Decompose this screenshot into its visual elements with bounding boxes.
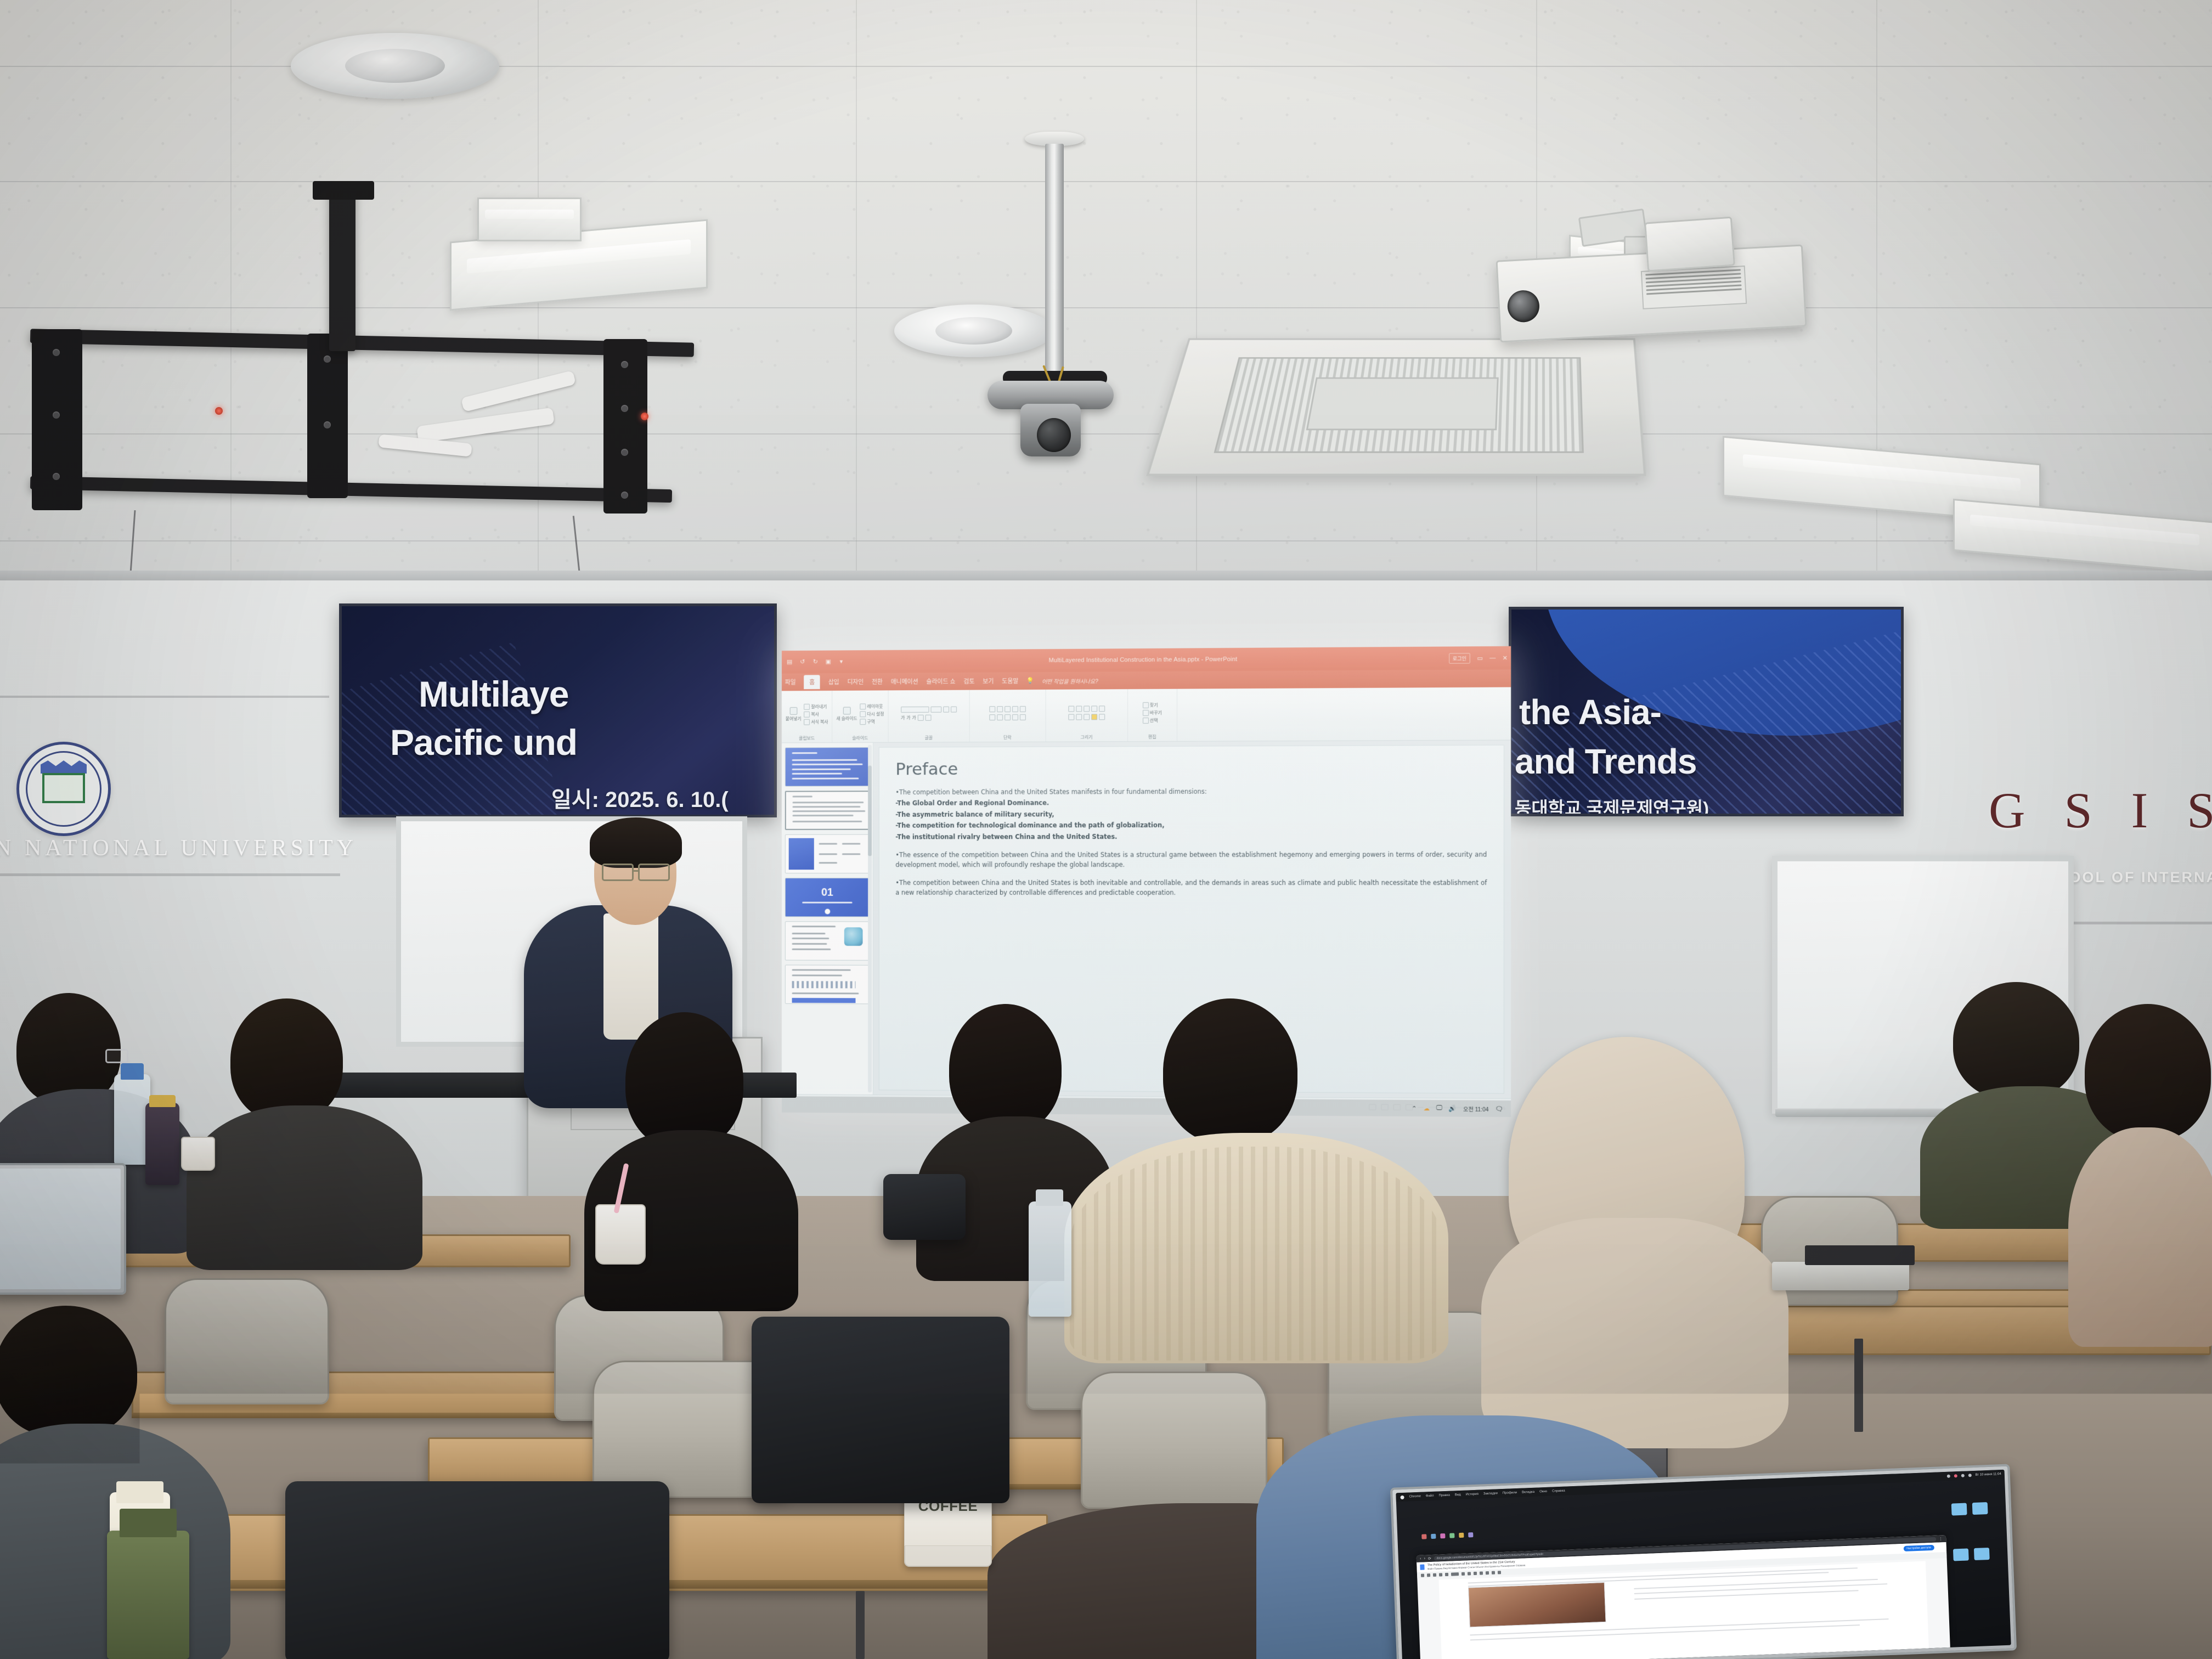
bold-button[interactable]: 가 (901, 715, 905, 721)
ptz-camera-head (1020, 404, 1081, 456)
seal-crown-graphic (41, 760, 87, 774)
ribbon-group-editing[interactable]: 찾기 바꾸기 선택 편집 (1128, 689, 1177, 741)
menu-window[interactable]: Окно (1539, 1490, 1547, 1494)
downlight-bulb (935, 317, 1012, 345)
paper-cup (181, 1137, 215, 1171)
bottle-cap (1036, 1189, 1063, 1206)
desk-leg (1854, 1339, 1863, 1432)
desk-leg (856, 1591, 865, 1659)
paste-label: 붙여넣기 (786, 715, 802, 721)
menu-tab[interactable]: Вкладка (1522, 1491, 1534, 1494)
close-icon[interactable]: ✕ (1503, 654, 1508, 661)
backpack (752, 1317, 1009, 1503)
camera-lens (1037, 418, 1071, 452)
share-button[interactable]: Настройки доступа (1903, 1545, 1934, 1551)
tab-slideshow[interactable]: 슬라이드 쇼 (926, 677, 955, 686)
ceiling-grid-line (1196, 0, 1197, 592)
hijab-drape (1481, 1218, 1788, 1448)
paste-icon (789, 707, 797, 714)
lightbulb-icon: 💡 (1026, 678, 1034, 685)
bullet-marker: • (895, 879, 899, 887)
bold-icon[interactable] (1462, 1572, 1465, 1575)
tv-mount-plate-mid (307, 334, 348, 498)
slide-thumbnail[interactable] (785, 834, 870, 874)
tablet-device (0, 1163, 126, 1295)
tab-design[interactable]: 디자인 (847, 678, 864, 686)
tab-file[interactable]: 파일 (785, 678, 796, 687)
align-right-icon[interactable] (1005, 714, 1011, 720)
apple-logo-icon[interactable] (1400, 1495, 1404, 1499)
reset-icon (860, 711, 866, 717)
copy-button[interactable]: 복사 (804, 711, 828, 717)
replace-button[interactable]: 바꾸기 (1143, 709, 1162, 715)
shape-rect-icon[interactable] (1068, 706, 1074, 712)
new-slide-button[interactable]: 새 슬라이드 (836, 707, 857, 721)
ac-center-panel (1306, 377, 1499, 430)
slide-thumbnail[interactable] (785, 791, 870, 830)
audience-head (230, 998, 343, 1122)
shape-more-icon[interactable] (1099, 706, 1105, 712)
italic-button[interactable]: 가 (906, 715, 910, 721)
audience-member-hijab (1459, 1037, 1843, 1454)
audience-torso (187, 1105, 422, 1270)
shape-line-icon[interactable] (1076, 706, 1082, 712)
slide-heading: Preface (895, 758, 1487, 779)
iced-drink-cup (595, 1204, 646, 1265)
wall-panel-line (0, 873, 340, 876)
battery-icon[interactable] (1954, 1474, 1957, 1477)
font-family-select[interactable] (901, 707, 929, 713)
decrease-indent-icon[interactable] (1005, 706, 1011, 712)
text-shadow-icon[interactable] (918, 715, 924, 721)
eyeglasses (105, 1049, 128, 1063)
ribbon-group-clipboard[interactable]: 붙여넣기 잘라내기 복사 서식 복사 (782, 691, 832, 743)
macbook-screen[interactable]: Chrome Файл Правка Вид История Закладки … (1396, 1470, 2011, 1659)
notebook-stack (1772, 1262, 1909, 1290)
scissors-icon (804, 703, 810, 709)
fluorescent-tube (1970, 515, 2199, 545)
green-water-bottle (107, 1531, 189, 1659)
status-led-red (641, 413, 648, 420)
slide-subbullet-4: -The institutional rivalry between China… (895, 832, 1487, 842)
italic-icon[interactable] (1468, 1572, 1471, 1575)
wall-top-band (0, 571, 2212, 580)
font-color-icon[interactable] (926, 715, 932, 721)
print-icon[interactable] (1433, 1573, 1436, 1576)
tab-view[interactable]: 보기 (983, 677, 994, 686)
link-icon[interactable] (1486, 1571, 1489, 1575)
tab-home[interactable]: 홈 (804, 675, 820, 689)
audience-member (1059, 998, 1476, 1355)
chair (1081, 1372, 1267, 1509)
section-button[interactable]: 구역 (860, 719, 884, 725)
cut-button[interactable]: 잘라내기 (804, 703, 828, 709)
mac-clock[interactable]: Вт 10 июня 11:04 (1975, 1472, 2001, 1477)
slide-subbullet-2: -The asymmetric balance of military secu… (895, 809, 1487, 820)
projector-label (1641, 266, 1747, 309)
paint-format-icon[interactable] (1445, 1573, 1448, 1576)
powerpoint-title-bar: ▤ ↺ ↻ ▣ ▾ MultiLayered Institutional Con… (782, 646, 1511, 674)
audience-torso (2068, 1127, 2212, 1347)
banner-right: the Asia- and Trends 동대학교 국제문제연구원) (1509, 607, 1904, 816)
banner-left-date: 일시: 2025. 6. 10.( (551, 782, 729, 814)
menu-file[interactable]: Файл (1426, 1494, 1434, 1498)
new-slide-label: 새 슬라이드 (836, 715, 857, 721)
numbered-list-icon[interactable] (997, 706, 1003, 712)
minimize-icon[interactable]: — (1489, 654, 1496, 661)
menu-edit[interactable]: Правка (1439, 1494, 1450, 1498)
drawing-group-label: 그리기 (1081, 734, 1093, 740)
replace-icon (1143, 709, 1149, 715)
audience-head (0, 1306, 137, 1437)
bullet-marker: • (895, 788, 899, 796)
university-wordmark: N NATIONAL UNIVERSITY (0, 835, 357, 861)
tv-mount-drop-pole (329, 187, 356, 351)
desktop-icons-row (1422, 1532, 1474, 1539)
select-button[interactable]: 선택 (1143, 717, 1158, 723)
slide-bullet-1: •The competition between China and the U… (895, 786, 1487, 797)
cut-label: 잘라내기 (811, 703, 827, 709)
pusan-national-university-seal (16, 742, 111, 836)
fluorescent-tube (485, 210, 574, 218)
ribbon-group-drawing[interactable]: 그리기 (1046, 689, 1127, 742)
water-bottle (1029, 1201, 1071, 1317)
tv-mount-plate-right (603, 339, 647, 513)
slide-section-number: 01 (821, 887, 833, 899)
bullet-text: The Global Order and Regional Dominance. (897, 799, 1049, 808)
eyeglasses-right-lens (638, 864, 670, 881)
ceiling-grid-line (0, 540, 2212, 541)
eyeglasses-left-lens (602, 864, 634, 881)
chrome-browser-window[interactable]: ‹ › ⟳ docs.google.com/document/d/1JjvTcL… (1417, 1535, 1950, 1659)
fluorescent-tube (1743, 454, 2020, 491)
shape-fill-icon[interactable] (1068, 714, 1074, 720)
tv-mount-plate-left (32, 329, 82, 510)
spellcheck-icon[interactable] (1439, 1573, 1442, 1576)
image-icon[interactable] (1498, 1571, 1501, 1574)
downlight-bulb (345, 49, 445, 83)
eyeglasses-bridge (634, 870, 639, 872)
desktop-folder-icons (1953, 1548, 1990, 1561)
tell-me-search[interactable]: 어떤 작업을 원하시나요? (1042, 676, 1098, 685)
thumbnail-scrollbar[interactable] (868, 745, 872, 1092)
paste-button[interactable]: 붙여넣기 (786, 707, 802, 721)
status-led-red (215, 407, 223, 415)
audience-head (1163, 998, 1297, 1144)
reset-label: 다시 설정 (867, 711, 884, 717)
tab-review[interactable]: 검토 (963, 677, 974, 686)
font-size-select[interactable] (930, 707, 941, 713)
bullet-text: The competition between China and the Un… (895, 879, 1487, 896)
quick-styles-icon[interactable] (1091, 714, 1097, 720)
extensions-icon[interactable]: ⋮ (1939, 1537, 1943, 1541)
bottle-cap (149, 1095, 176, 1107)
font-group-label: 글꼴 (925, 735, 933, 741)
backpack (285, 1481, 669, 1659)
inline-document-image (1468, 1582, 1606, 1628)
increase-font-icon[interactable] (943, 707, 949, 713)
wall-panel-line (0, 696, 329, 698)
macbook-laptop[interactable]: Chrome Файл Правка Вид История Закладки … (1390, 1464, 2017, 1659)
arrange-icon[interactable] (1099, 714, 1105, 720)
menu-bar-status-items[interactable]: Вт 10 июня 11:04 (1946, 1472, 2001, 1478)
menu-help[interactable]: Справка (1552, 1489, 1565, 1493)
bullet-text: The essence of the competition between C… (895, 851, 1487, 868)
justify-icon[interactable] (1012, 714, 1018, 720)
ceiling-ac-cassette (1146, 338, 1646, 476)
banner-left-title-line2: Pacific und (390, 721, 577, 763)
underline-icon[interactable] (1474, 1572, 1477, 1575)
format-painter-label: 서식 복사 (811, 719, 828, 725)
tv-mount-ceiling-plate (313, 181, 374, 200)
brush-icon (804, 719, 810, 725)
reload-icon[interactable]: ⟳ (1428, 1556, 1431, 1561)
slide-bullet-3: •The competition between China and the U… (895, 878, 1487, 898)
layout-button[interactable]: 레이아웃 (860, 703, 884, 709)
menu-history[interactable]: История (1466, 1493, 1479, 1497)
shape-outline-icon[interactable] (1076, 714, 1082, 720)
bullet-text: The asymmetric balance of military secur… (897, 810, 1054, 818)
lecture-hall-photo: N NATIONAL UNIVERSITY G S I S GRADUATE S… (0, 0, 2212, 1659)
layout-icon (860, 703, 866, 709)
bullet-text: The competition for technological domina… (897, 821, 1164, 830)
paragraph-group-label: 단락 (1003, 735, 1012, 741)
banner-right-subtitle: 동대학교 국제문제연구원) (1515, 794, 1709, 816)
sweater-rib-texture (1070, 1147, 1443, 1361)
fluorescent-tube (467, 239, 691, 273)
tablet-screen (0, 1169, 121, 1289)
ceiling-grid-line (856, 0, 857, 592)
powerpoint-ribbon[interactable]: 붙여넣기 잘라내기 복사 서식 복사 (782, 687, 1511, 743)
audience-head (1953, 982, 2079, 1100)
line-spacing-icon[interactable] (1020, 706, 1026, 712)
ceiling-downlight (291, 33, 499, 99)
banner-left: Multilaye Pacific und 일시: 2025. 6. 10.( (339, 603, 777, 817)
reset-button[interactable]: 다시 설정 (860, 711, 884, 717)
audience-head (2085, 1004, 2211, 1141)
menu-chrome[interactable]: Chrome (1409, 1495, 1421, 1499)
world-map-image (844, 927, 862, 946)
thermos-cap (116, 1481, 163, 1503)
bluetooth-icon[interactable] (1946, 1475, 1950, 1478)
bullet-text: The competition between China and the Un… (899, 788, 1207, 796)
shape-effects-icon[interactable] (1084, 714, 1090, 720)
slide-thumbnail[interactable] (785, 747, 870, 787)
undo-icon[interactable] (1421, 1573, 1424, 1577)
find-label: 찾기 (1150, 702, 1158, 708)
find-button[interactable]: 찾기 (1143, 702, 1158, 708)
ribbon-group-slides[interactable]: 새 슬라이드 레이아웃 다시 설정 구역 (832, 690, 888, 742)
new-slide-icon (843, 707, 850, 714)
bottle-cap (120, 1509, 177, 1537)
projector-top-housing (1644, 217, 1735, 272)
decrease-font-icon[interactable] (951, 707, 957, 713)
ceiling-downlight (894, 304, 1053, 357)
audience-member (2074, 1004, 2212, 1344)
section-icon (860, 719, 866, 725)
back-icon[interactable]: ‹ (1420, 1557, 1421, 1561)
ribbon-group-paragraph[interactable]: 단락 (970, 690, 1046, 742)
tab-help[interactable]: 도움말 (1002, 676, 1018, 685)
bullet-marker: • (895, 851, 899, 859)
bag (883, 1174, 966, 1240)
redo-icon[interactable] (1427, 1573, 1430, 1577)
tab-animations[interactable]: 애니메이션 (891, 677, 918, 686)
bottle-cap (121, 1063, 144, 1080)
powerpoint-document-title: MultiLayered Institutional Construction … (782, 654, 1511, 665)
gsis-acronym: G S I S (1989, 781, 2212, 839)
tab-insert[interactable]: 삽입 (828, 678, 839, 686)
text-color-icon[interactable] (1480, 1571, 1483, 1575)
seal-book-graphic (42, 773, 85, 803)
zoom-select[interactable] (1451, 1572, 1459, 1576)
sign-in-button[interactable]: 로그인 (1449, 653, 1470, 663)
text-direction-icon[interactable] (1020, 714, 1026, 720)
banner-left-title-line1: Multilaye (419, 673, 568, 715)
slide-thumbnail[interactable] (785, 921, 870, 961)
slide-bullet-2: •The essence of the competition between … (895, 850, 1487, 870)
comment-icon[interactable] (1492, 1571, 1495, 1574)
closed-laptop (1805, 1245, 1915, 1265)
bullet-list-icon[interactable] (989, 706, 995, 712)
tab-transitions[interactable]: 전환 (872, 678, 883, 686)
window-controls[interactable]: 로그인 ▭ — ✕ (1449, 652, 1508, 663)
projector-lens (1506, 290, 1540, 323)
menu-view[interactable]: Вид (1455, 1493, 1461, 1497)
docs-icon (1420, 1565, 1425, 1570)
underline-button[interactable]: 가 (912, 715, 916, 721)
slide-subbullet-3: -The competition for technological domin… (895, 820, 1487, 831)
clipboard-group-label: 클립보드 (799, 735, 815, 741)
select-icon (1143, 717, 1149, 723)
audience-head (625, 1012, 743, 1149)
document-page[interactable] (1438, 1561, 1929, 1659)
menu-bookmarks[interactable]: Закладки (1483, 1492, 1498, 1496)
increase-indent-icon[interactable] (1012, 706, 1018, 712)
menu-profiles[interactable]: Профили (1503, 1491, 1517, 1495)
beverage-bottle (145, 1103, 179, 1185)
restore-icon[interactable]: ▭ (1477, 654, 1483, 662)
slide-subbullet-1: -The Global Order and Regional Dominance… (895, 798, 1487, 809)
format-painter-button[interactable]: 서식 복사 (804, 719, 828, 725)
ceiling-grid-line (230, 0, 232, 592)
shape-arrow-icon[interactable] (1084, 706, 1090, 712)
speaker-hair (590, 817, 682, 868)
banner-right-title-line1: the Asia- (1519, 692, 1661, 732)
banner-right-title-line2: and Trends (1515, 741, 1696, 782)
layout-label: 레이아웃 (867, 703, 883, 709)
ceiling-light-fixture (477, 198, 582, 241)
control-center-icon[interactable] (1968, 1474, 1971, 1477)
shape-oval-icon[interactable] (1091, 706, 1097, 712)
select-label: 선택 (1150, 717, 1158, 723)
search-icon (1143, 702, 1149, 708)
copy-icon (804, 711, 810, 717)
copy-label: 복사 (811, 711, 819, 717)
editing-group-label: 편집 (1148, 734, 1156, 740)
ribbon-group-font[interactable]: 가 가 가 글꼴 (888, 690, 969, 742)
audience-head (16, 993, 121, 1105)
audience-head (949, 1004, 1062, 1133)
desktop-folder-icons (1951, 1502, 1988, 1516)
slide-thumbnail[interactable]: 01 (785, 878, 870, 917)
camera-mount-pole (1045, 144, 1064, 374)
audience-member (198, 998, 417, 1256)
slides-group-label: 슬라이드 (852, 735, 868, 741)
replace-label: 바꾸기 (1150, 709, 1162, 715)
forward-icon[interactable]: › (1424, 1557, 1425, 1561)
slide-thumbnail[interactable] (785, 965, 870, 1005)
align-left-icon[interactable] (989, 714, 995, 720)
bullet-text: The institutional rivalry between China … (897, 833, 1117, 840)
wifi-icon[interactable] (1961, 1474, 1964, 1477)
section-label: 구역 (867, 719, 875, 725)
align-center-icon[interactable] (997, 714, 1003, 720)
